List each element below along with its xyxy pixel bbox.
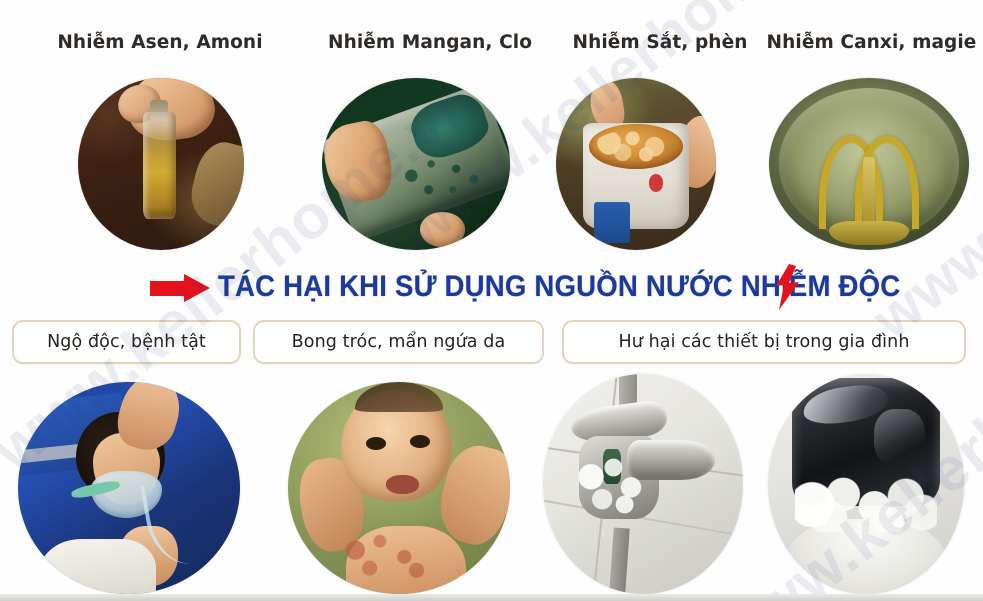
appliance-highlight-2 xyxy=(874,409,925,466)
arrow-body-shape xyxy=(150,281,188,296)
photo-hand-holding-glass-of-murky-green-water xyxy=(322,78,510,250)
photo-child-in-hospital-with-oxygen-mask xyxy=(18,382,240,594)
harm-caption-label-1: Bong tróc, mẩn ngứa da xyxy=(292,332,506,352)
contaminant-cell-asen-amoni: Nhiễm Asen, Amoni xyxy=(0,0,320,258)
cloth-shape xyxy=(185,137,244,232)
contaminant-row: Nhiễm Asen, Amoni Nhiễm Mangan, Clo Nhiễ… xyxy=(0,0,983,258)
photo-corroded-faucet-with-limescale xyxy=(543,374,743,594)
harm-caption-appliances: Hư hại các thiết bị trong gia đình xyxy=(562,320,966,364)
thumb-shape xyxy=(420,212,465,246)
harm-caption-label-0: Ngộ độc, bệnh tật xyxy=(47,332,206,352)
coil-base xyxy=(829,221,909,245)
contaminant-cell-mangan-clo: Nhiễm Mangan, Clo xyxy=(300,0,560,258)
skin-rash-texture xyxy=(337,530,439,585)
red-arrow-icon xyxy=(150,274,214,302)
lightning-bolt-icon xyxy=(772,264,802,310)
child-shirt-shape xyxy=(40,539,155,594)
infographic-poster: Nhiễm Asen, Amoni Nhiễm Mangan, Clo Nhiễ… xyxy=(0,0,983,601)
bottom-edge-strip xyxy=(0,594,983,601)
contaminant-label-mangan-clo: Nhiễm Mangan, Clo xyxy=(300,32,560,53)
contaminant-label-asen-amoni: Nhiễm Asen, Amoni xyxy=(0,32,320,53)
foam-texture xyxy=(594,130,677,163)
harm-caption-label-2: Hư hại các thiết bị trong gia đình xyxy=(618,332,909,352)
contaminant-label-sat-phen: Nhiễm Sắt, phèn xyxy=(545,32,775,53)
bucket-red-label xyxy=(649,174,663,191)
bottle-shape xyxy=(143,112,176,219)
photo-baby-with-skin-rash-and-irritation xyxy=(288,382,510,594)
bucket-blue-label xyxy=(594,202,629,243)
contaminant-cell-canxi-magie: Nhiễm Canxi, magie xyxy=(760,0,983,258)
drain-pipe-shape xyxy=(608,528,629,594)
photo-heating-element-with-limescale-deposits xyxy=(769,78,969,250)
baby-eye-left xyxy=(366,437,386,450)
contaminant-label-canxi-magie: Nhiễm Canxi, magie xyxy=(760,32,983,53)
headline-band: TÁC HẠI KHI SỬ DỤNG NGUỒN NƯỚC NHIỄM ĐỘC xyxy=(0,258,983,316)
contaminant-cell-sat-phen: Nhiễm Sắt, phèn xyxy=(545,0,775,258)
photo-appliance-part-damaged-by-limescale xyxy=(768,374,964,594)
baby-hair-shape xyxy=(355,382,444,412)
limescale-buildup-texture xyxy=(795,475,936,532)
limescale-texture xyxy=(575,453,655,519)
harm-caption-skin: Bong tróc, mẩn ngứa da xyxy=(253,320,544,364)
baby-mouth-shape xyxy=(386,475,419,494)
arrow-head-shape xyxy=(184,274,210,302)
photo-white-bucket-of-rusty-orange-water xyxy=(556,78,716,250)
photo-hand-holding-bottle-of-yellow-contaminated-water xyxy=(78,78,244,250)
baby-eye-right xyxy=(410,435,430,448)
harm-caption-poisoning: Ngộ độc, bệnh tật xyxy=(12,320,241,364)
